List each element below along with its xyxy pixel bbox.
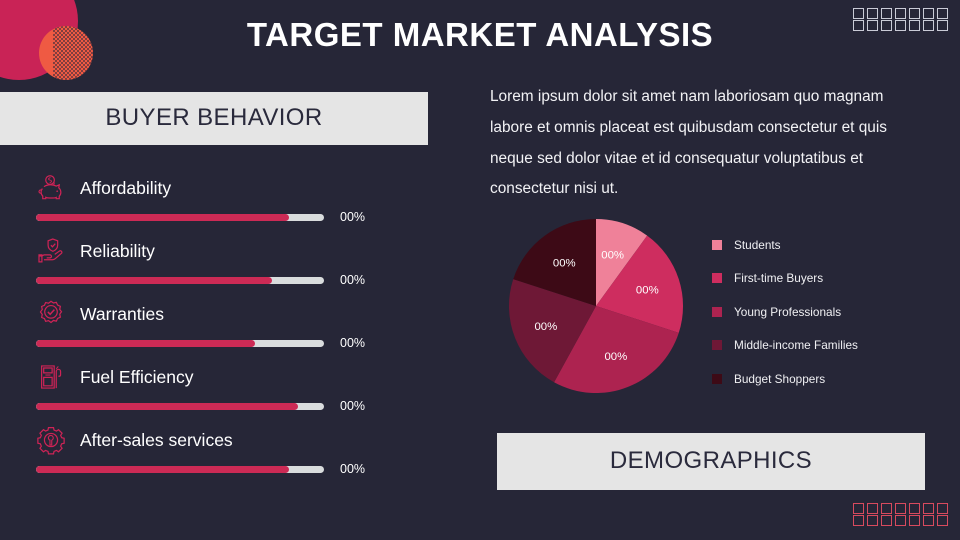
- grid-square: [937, 515, 948, 526]
- pie-slice-label: 00%: [553, 258, 576, 270]
- grid-square: [881, 20, 892, 31]
- legend-item[interactable]: Students: [712, 233, 858, 256]
- legend-label: Students: [734, 238, 781, 252]
- buyer-behavior-panel: BUYER BEHAVIOR Affordability: [0, 92, 452, 486]
- legend-item[interactable]: Middle-income Families: [712, 334, 858, 357]
- progress-percent-label: 00%: [340, 273, 365, 287]
- decorative-circles: [0, 0, 140, 100]
- progress-bar[interactable]: [36, 466, 324, 473]
- progress-bar-fill: [36, 277, 272, 284]
- grid-square: [895, 20, 906, 31]
- list-item[interactable]: After-sales services 00%: [36, 423, 452, 486]
- hand-shield-icon: [36, 236, 66, 266]
- pie-chart-section: 00%00%00%00%00% StudentsFirst-time Buyer…: [490, 217, 940, 401]
- piggy-bank-icon: [36, 173, 66, 203]
- list-item-label: Reliability: [80, 241, 155, 262]
- pie-chart: 00%00%00%00%00%: [506, 217, 686, 395]
- list-item-label: Warranties: [80, 304, 164, 325]
- list-item[interactable]: Affordability 00%: [36, 171, 452, 234]
- demographics-banner: DEMOGRAPHICS: [497, 433, 925, 490]
- legend-item[interactable]: Young Professionals: [712, 300, 858, 323]
- grid-square: [923, 20, 934, 31]
- progress-percent-label: 00%: [340, 462, 365, 476]
- body-paragraph: Lorem ipsum dolor sit amet nam laboriosa…: [490, 82, 930, 205]
- buyer-behavior-banner: BUYER BEHAVIOR: [0, 92, 428, 145]
- progress-bar-fill: [36, 214, 289, 221]
- legend-item[interactable]: First-time Buyers: [712, 267, 858, 290]
- legend-swatch: [712, 374, 722, 384]
- demographics-banner-wrap: DEMOGRAPHICS: [497, 433, 925, 490]
- badge-check-icon: [36, 299, 66, 329]
- legend-label: Budget Shoppers: [734, 372, 825, 386]
- grid-square: [923, 515, 934, 526]
- legend-label: Young Professionals: [734, 305, 841, 319]
- progress-percent-label: 00%: [340, 399, 365, 413]
- legend-label: First-time Buyers: [734, 271, 823, 285]
- pie-slice-label: 00%: [604, 351, 627, 363]
- grid-square: [923, 503, 934, 514]
- list-item[interactable]: Fuel Efficiency 00%: [36, 360, 452, 423]
- progress-bar[interactable]: [36, 340, 324, 347]
- progress-bar-fill: [36, 403, 298, 410]
- grid-square: [853, 20, 864, 31]
- grid-square: [895, 8, 906, 19]
- list-item-label: Fuel Efficiency: [80, 367, 193, 388]
- pie-slice-label: 00%: [534, 321, 557, 333]
- list-item[interactable]: Warranties 00%: [36, 297, 452, 360]
- pie-chart-legend: StudentsFirst-time BuyersYoung Professio…: [712, 217, 858, 401]
- pie-slice-label: 00%: [601, 250, 624, 262]
- demographics-panel: Lorem ipsum dolor sit amet nam laboriosa…: [490, 82, 940, 401]
- progress-percent-label: 00%: [340, 210, 365, 224]
- grid-square: [853, 503, 864, 514]
- progress-bar[interactable]: [36, 277, 324, 284]
- progress-bar[interactable]: [36, 403, 324, 410]
- legend-swatch: [712, 340, 722, 350]
- buyer-behavior-list: Affordability 00%: [0, 171, 452, 486]
- grid-square: [909, 515, 920, 526]
- grid-square: [937, 20, 948, 31]
- grid-square: [881, 503, 892, 514]
- legend-label: Middle-income Families: [734, 338, 858, 352]
- square-grid-top-right: [853, 8, 950, 31]
- grid-square: [909, 503, 920, 514]
- square-grid-bottom-right: [853, 503, 950, 526]
- fuel-pump-icon: [36, 362, 66, 392]
- grid-square: [867, 8, 878, 19]
- legend-swatch: [712, 307, 722, 317]
- grid-square: [881, 8, 892, 19]
- legend-swatch: [712, 240, 722, 250]
- grid-square: [853, 515, 864, 526]
- grid-square: [895, 515, 906, 526]
- grid-square: [937, 503, 948, 514]
- progress-bar[interactable]: [36, 214, 324, 221]
- pie-slice-label: 00%: [636, 285, 659, 297]
- list-item-label: After-sales services: [80, 430, 233, 451]
- grid-square: [937, 8, 948, 19]
- progress-percent-label: 00%: [340, 336, 365, 350]
- grid-square: [923, 8, 934, 19]
- grid-square: [909, 8, 920, 19]
- progress-bar-fill: [36, 466, 289, 473]
- legend-swatch: [712, 273, 722, 283]
- grid-square: [867, 503, 878, 514]
- list-item[interactable]: Reliability 00%: [36, 234, 452, 297]
- list-item-label: Affordability: [80, 178, 171, 199]
- page-title: TARGET MARKET ANALYSIS: [150, 16, 810, 54]
- grid-square: [867, 515, 878, 526]
- gear-wrench-icon: [36, 425, 66, 455]
- grid-square: [853, 8, 864, 19]
- grid-square: [881, 515, 892, 526]
- progress-bar-fill: [36, 340, 255, 347]
- grid-square: [895, 503, 906, 514]
- grid-square: [867, 20, 878, 31]
- grid-square: [909, 20, 920, 31]
- legend-item[interactable]: Budget Shoppers: [712, 367, 858, 390]
